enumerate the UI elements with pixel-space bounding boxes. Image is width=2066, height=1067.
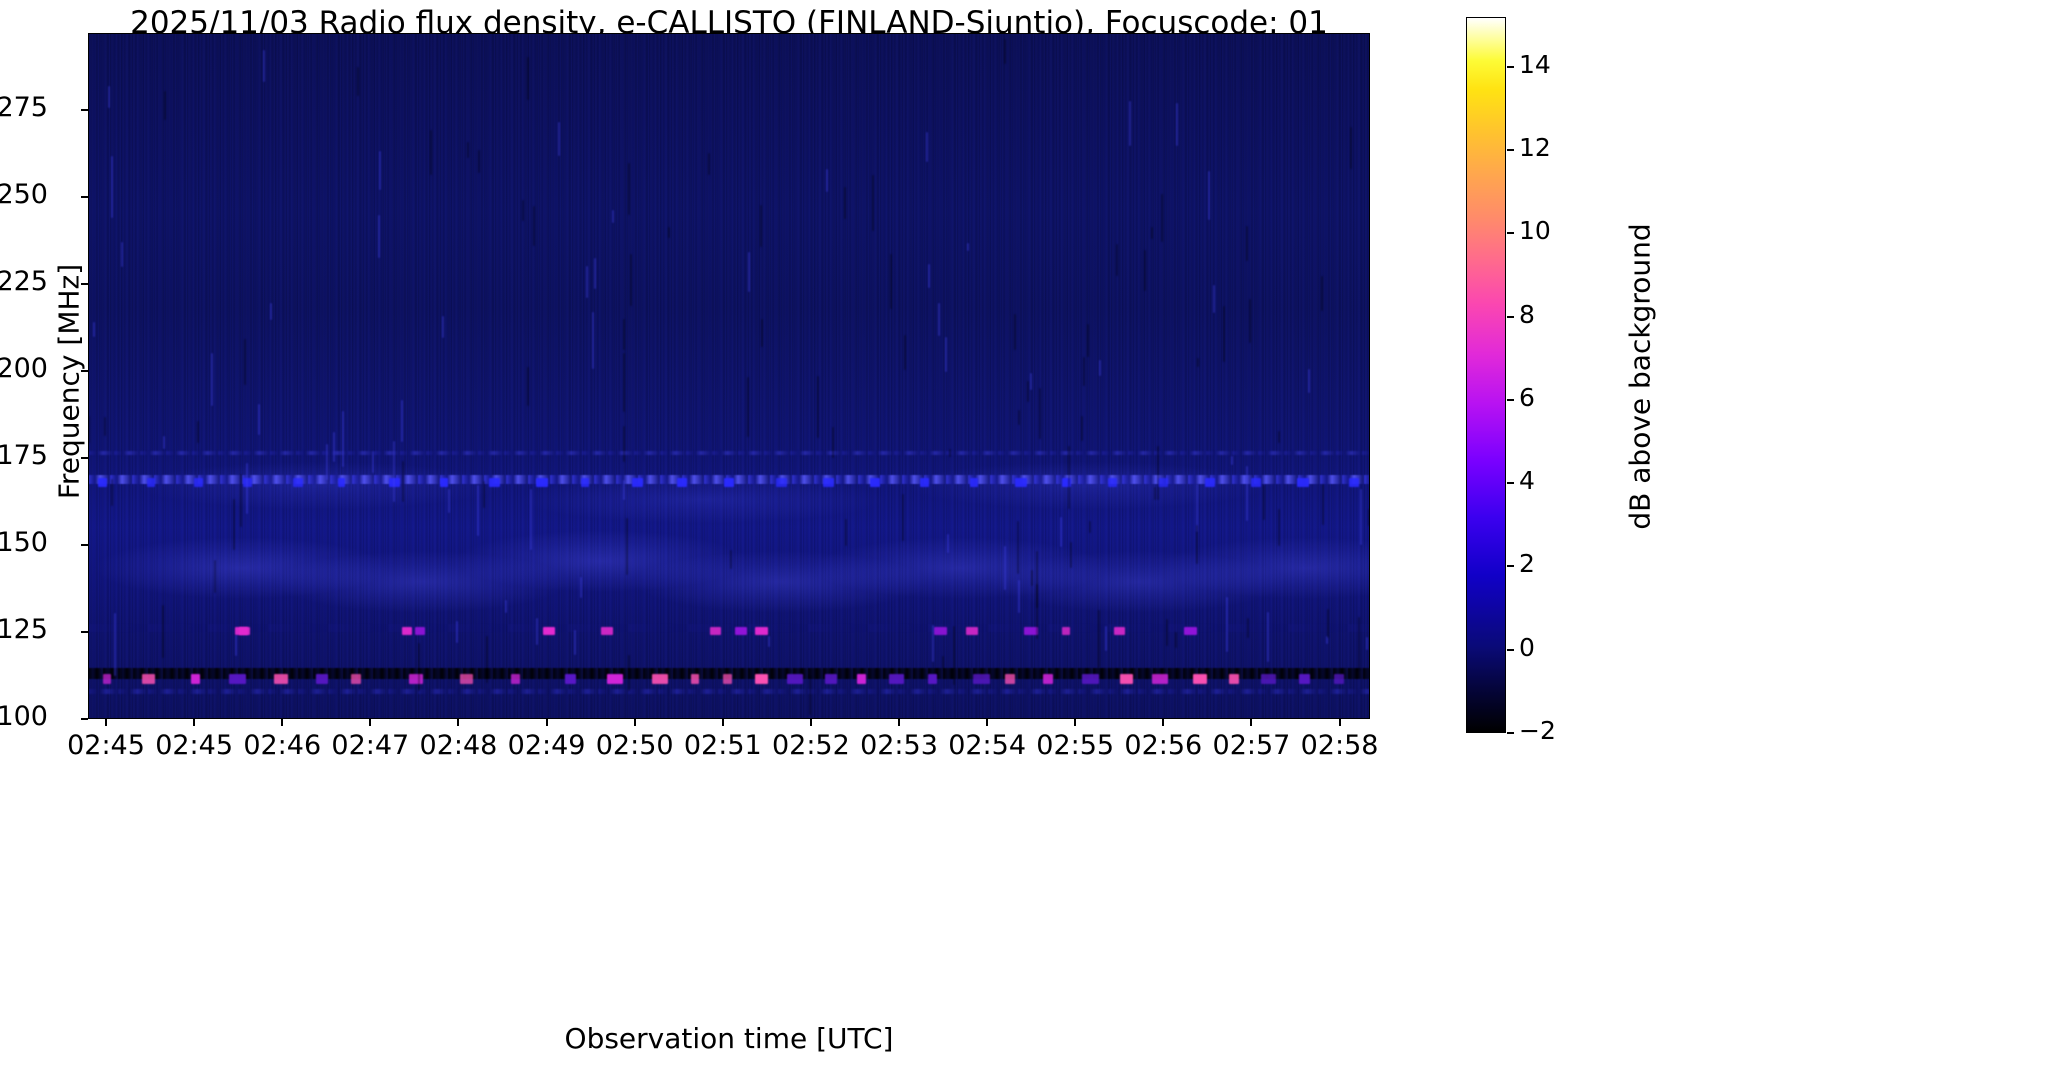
colorbar-tick-mark (1507, 482, 1514, 484)
noise-streak (708, 153, 710, 175)
rfi-spot (1297, 478, 1309, 487)
noise-streak (477, 485, 479, 536)
noise-streak (558, 122, 560, 156)
noise-streak (111, 479, 113, 506)
rfi-spot (511, 674, 520, 684)
noise-streak (379, 151, 381, 190)
noise-streak (1231, 456, 1233, 465)
x-tick-mark (634, 719, 636, 726)
noise-streak (1176, 103, 1178, 146)
rfi-spot (1120, 674, 1133, 684)
noise-streak (1247, 618, 1249, 638)
y-tick-mark (81, 196, 88, 198)
colorbar-tick-label: 2 (1519, 549, 1535, 578)
noise-streak (1036, 584, 1038, 639)
noise-streak (1089, 521, 1091, 532)
colorbar-tick-mark (1507, 316, 1514, 318)
noise-streak (872, 175, 874, 230)
y-tick-mark (81, 631, 88, 633)
noise-streak (938, 303, 940, 336)
noise-streak (1249, 299, 1251, 343)
noise-streak (333, 432, 335, 463)
noise-streak (1321, 276, 1323, 311)
noise-streak (628, 655, 630, 691)
x-tick-mark (1074, 719, 1076, 726)
noise-streak (111, 156, 113, 218)
noise-streak (1223, 306, 1225, 362)
noise-streak (1081, 416, 1083, 442)
rfi-spot (1184, 627, 1197, 635)
noise-streak (594, 258, 596, 290)
noise-streak (467, 142, 469, 159)
rfi-spot (1152, 674, 1168, 684)
noise-streak (214, 560, 216, 593)
noise-streak (748, 252, 750, 293)
rfi-spot (581, 478, 589, 487)
noise-streak (1129, 101, 1131, 146)
y-tick-label: 275 (0, 92, 48, 123)
rfi-spot (351, 674, 361, 684)
noise-streak (448, 489, 450, 513)
noise-streak (1278, 431, 1280, 443)
x-tick-mark (810, 719, 812, 726)
noise-streak (845, 519, 847, 547)
rfi-spot (724, 478, 734, 487)
rfi-spot (409, 674, 423, 684)
noise-streak (947, 534, 949, 553)
noise-streak (826, 169, 828, 193)
colorbar-tick-mark (1507, 66, 1514, 68)
rfi-spot (825, 674, 837, 684)
noise-streak (1099, 360, 1101, 376)
rfi-spot (928, 674, 937, 684)
rfi-spot (1114, 627, 1125, 635)
noise-streak (1027, 381, 1029, 401)
colorbar-tick-label: 0 (1519, 633, 1535, 662)
noise-streak (233, 499, 235, 550)
noise-streak (1098, 610, 1100, 668)
noise-streak (197, 421, 199, 443)
noise-streak (104, 417, 106, 436)
rfi-spot (787, 674, 803, 684)
figure-canvas: 2025/11/03 Radio flux density, e-CALLIST… (0, 0, 2066, 1067)
noise-streak (1083, 357, 1085, 387)
rfi-spot (934, 627, 947, 635)
noise-streak (522, 200, 524, 221)
rfi-spot (755, 627, 768, 635)
rfi-spot (823, 478, 834, 487)
noise-streak (244, 339, 246, 385)
x-tick-mark (722, 719, 724, 726)
noise-streak (527, 57, 529, 100)
spectrogram-image[interactable] (88, 33, 1370, 719)
noise-streak (263, 50, 265, 82)
colorbar-tick-mark (1507, 232, 1514, 234)
rfi-spot (857, 674, 866, 684)
noise-streak (768, 636, 770, 647)
colorbar-tick-mark (1507, 565, 1514, 567)
noise-streak (240, 474, 242, 528)
rfi-band-176mhz (88, 451, 1370, 455)
noise-streak (88, 416, 90, 442)
rfi-spot (1251, 478, 1261, 487)
noise-streak (612, 210, 614, 223)
colorbar-tick-mark (1507, 149, 1514, 151)
noise-streak (1358, 617, 1360, 670)
noise-streak (817, 376, 819, 438)
noise-streak (1017, 521, 1019, 574)
rfi-spot (723, 674, 732, 684)
noise-streak (730, 550, 732, 569)
colorbar-tick-label: 4 (1519, 466, 1535, 495)
noise-streak (1226, 597, 1228, 652)
noise-streak (1263, 485, 1265, 520)
rfi-spot (966, 627, 978, 635)
rfi-spot (1349, 478, 1359, 487)
x-tick-mark (281, 719, 283, 726)
rfi-spot (316, 674, 328, 684)
noise-streak (668, 227, 670, 238)
rfi-spot (691, 674, 699, 684)
noise-streak (1070, 542, 1072, 568)
rfi-spot (1108, 478, 1117, 487)
rfi-spot (103, 674, 111, 684)
noise-streak (844, 187, 846, 219)
noise-streak (108, 86, 110, 108)
noise-streak (623, 353, 625, 412)
x-tick-mark (105, 719, 107, 726)
y-tick-label: 250 (0, 179, 48, 210)
rfi-spot (229, 674, 246, 684)
noise-streak (527, 367, 529, 406)
noise-streak (342, 411, 344, 467)
noise-streak (401, 400, 403, 441)
rfi-spot (194, 478, 203, 487)
rfi-spot (677, 478, 687, 487)
colorbar-tick-label: 10 (1519, 216, 1551, 245)
rfi-spot (543, 627, 555, 635)
y-tick-mark (81, 283, 88, 285)
rfi-spot (652, 674, 668, 684)
rfi-spot (1062, 627, 1070, 635)
noise-streak (1175, 632, 1177, 649)
noise-streak (1004, 39, 1006, 64)
noise-streak (1308, 369, 1310, 393)
rfi-spot (536, 478, 548, 487)
rfi-spot (1205, 478, 1215, 487)
noise-streak (623, 426, 625, 462)
noise-streak (760, 205, 762, 247)
noise-streak (163, 436, 165, 449)
rfi-spot (440, 478, 448, 487)
rfi-spot (565, 674, 576, 684)
colorbar-tick-label: 12 (1519, 133, 1551, 162)
rfi-spot (973, 674, 990, 684)
noise-streak (949, 449, 951, 457)
noise-streak (890, 254, 892, 309)
noise-streak (211, 353, 213, 406)
x-tick-mark (369, 719, 371, 726)
noise-streak (1278, 509, 1280, 545)
rfi-spot (710, 627, 721, 635)
y-tick-label: 225 (0, 266, 48, 297)
rfi-spot (755, 674, 768, 684)
rfi-spot (142, 674, 155, 684)
noise-streak (1039, 388, 1041, 438)
x-tick-mark (1162, 719, 1164, 726)
noise-streak (1105, 626, 1107, 651)
rfi-spot (293, 478, 303, 487)
x-tick-mark (898, 719, 900, 726)
rfi-spot (601, 627, 613, 635)
noise-streak (378, 215, 380, 258)
rfi-spot (1193, 674, 1207, 684)
colorbar-tick-label: −2 (1519, 716, 1556, 745)
rfi-spot (889, 674, 904, 684)
rfi-spot (489, 478, 500, 487)
x-tick-mark (1250, 719, 1252, 726)
rfi-spot (338, 478, 345, 487)
colorbar-tick-mark (1507, 399, 1514, 401)
noise-streak (761, 319, 763, 347)
noise-streak (533, 206, 535, 247)
rfi-spot (1043, 674, 1053, 684)
noise-streak (574, 630, 576, 655)
noise-streak (1068, 446, 1070, 509)
noise-streak (1197, 358, 1199, 367)
noise-streak (630, 254, 632, 306)
rfi-spot (920, 478, 929, 487)
colorbar-tick-label: 8 (1519, 300, 1535, 329)
noise-streak (1368, 509, 1370, 525)
noise-streak (536, 618, 538, 645)
noise-streak (1030, 373, 1032, 390)
y-tick-mark (81, 718, 88, 720)
noise-streak (1208, 171, 1210, 221)
y-tick-label: 175 (0, 440, 48, 471)
rfi-spot (1158, 478, 1168, 487)
noise-streak (1157, 446, 1159, 500)
rfi-spot (870, 478, 880, 487)
colorbar-tick-label: 14 (1519, 50, 1551, 79)
colorbar-tick-mark (1507, 732, 1514, 734)
noise-streak (1327, 609, 1329, 637)
noise-streak (1004, 546, 1006, 590)
rfi-band-128mhz (88, 624, 1370, 632)
noise-streak (1166, 619, 1168, 647)
noise-streak (1196, 525, 1198, 564)
noise-streak (1014, 314, 1016, 350)
noise-streak (326, 444, 328, 479)
noise-streak (592, 312, 594, 369)
noise-streak (945, 337, 947, 371)
rfi-spot (1015, 478, 1027, 487)
noise-streak (1360, 489, 1362, 546)
colorbar-label: dB above background (1624, 67, 1657, 687)
noise-streak (626, 518, 628, 575)
y-tick-mark (81, 457, 88, 459)
noise-streak (928, 264, 930, 288)
noise-streak (418, 643, 420, 691)
rfi-spot (191, 674, 200, 684)
colorbar-gradient[interactable] (1466, 17, 1506, 733)
rfi-spot (415, 627, 425, 635)
y-tick-mark (81, 544, 88, 546)
rfi-band-108mhz (88, 689, 1370, 694)
rfi-spot (776, 478, 787, 487)
noise-streak (832, 427, 834, 458)
noise-streak (1366, 637, 1368, 650)
rfi-spot (402, 627, 412, 635)
noise-streak (586, 266, 588, 297)
x-tick-mark (193, 719, 195, 726)
rfi-spot (1299, 674, 1310, 684)
colorbar-tick-label: 6 (1519, 383, 1535, 412)
noise-streak (1018, 580, 1020, 613)
x-tick-mark (546, 719, 548, 726)
rfi-spot (632, 478, 643, 487)
noise-streak (93, 322, 95, 337)
rfi-spot (147, 478, 155, 487)
rfi-spot (1082, 674, 1099, 684)
noise-streak (623, 480, 625, 500)
y-tick-label: 200 (0, 353, 48, 384)
rfi-spot (1334, 674, 1344, 684)
noise-streak (235, 635, 237, 656)
noise-streak (967, 243, 969, 252)
noise-streak (932, 625, 934, 662)
rfi-spot (1005, 674, 1015, 684)
rfi-spot (970, 478, 978, 487)
x-tick-mark (986, 719, 988, 726)
rfi-spot (98, 478, 107, 487)
x-axis-label: Observation time [UTC] (88, 1022, 1370, 1055)
y-tick-label: 150 (0, 527, 48, 558)
noise-streak (1350, 127, 1352, 169)
noise-streak (1060, 517, 1062, 547)
rfi-spot (239, 627, 250, 635)
x-tick-mark (457, 719, 459, 726)
noise-streak (1246, 226, 1248, 262)
colorbar-tick-mark (1507, 649, 1514, 651)
noise-streak (1087, 324, 1089, 356)
x-tick-mark (1339, 719, 1341, 726)
noise-streak (357, 67, 359, 96)
rfi-spot (460, 674, 473, 684)
y-axis-label: Frequency [MHz] (53, 37, 86, 727)
noise-streak (486, 636, 488, 682)
rfi-spot (735, 627, 747, 635)
rfi-spot (607, 674, 623, 684)
y-tick-mark (81, 370, 88, 372)
noise-streak (1246, 466, 1248, 521)
noise-streak (1144, 250, 1146, 291)
x-tick-label: 02:58 (1282, 730, 1398, 761)
y-tick-label: 100 (0, 701, 48, 732)
noise-streak (1151, 227, 1153, 239)
rfi-spot (1229, 674, 1239, 684)
noise-streak (483, 481, 485, 508)
noise-streak (747, 377, 749, 437)
noise-streak (430, 130, 432, 175)
y-tick-label: 125 (0, 614, 48, 645)
noise-streak (505, 600, 507, 613)
noise-streak (953, 626, 955, 684)
noise-streak (1322, 484, 1324, 525)
noise-streak (1213, 285, 1215, 312)
y-tick-mark (81, 109, 88, 111)
noise-streak (456, 621, 458, 643)
rfi-spot (274, 674, 288, 684)
rfi-spot (1261, 674, 1276, 684)
